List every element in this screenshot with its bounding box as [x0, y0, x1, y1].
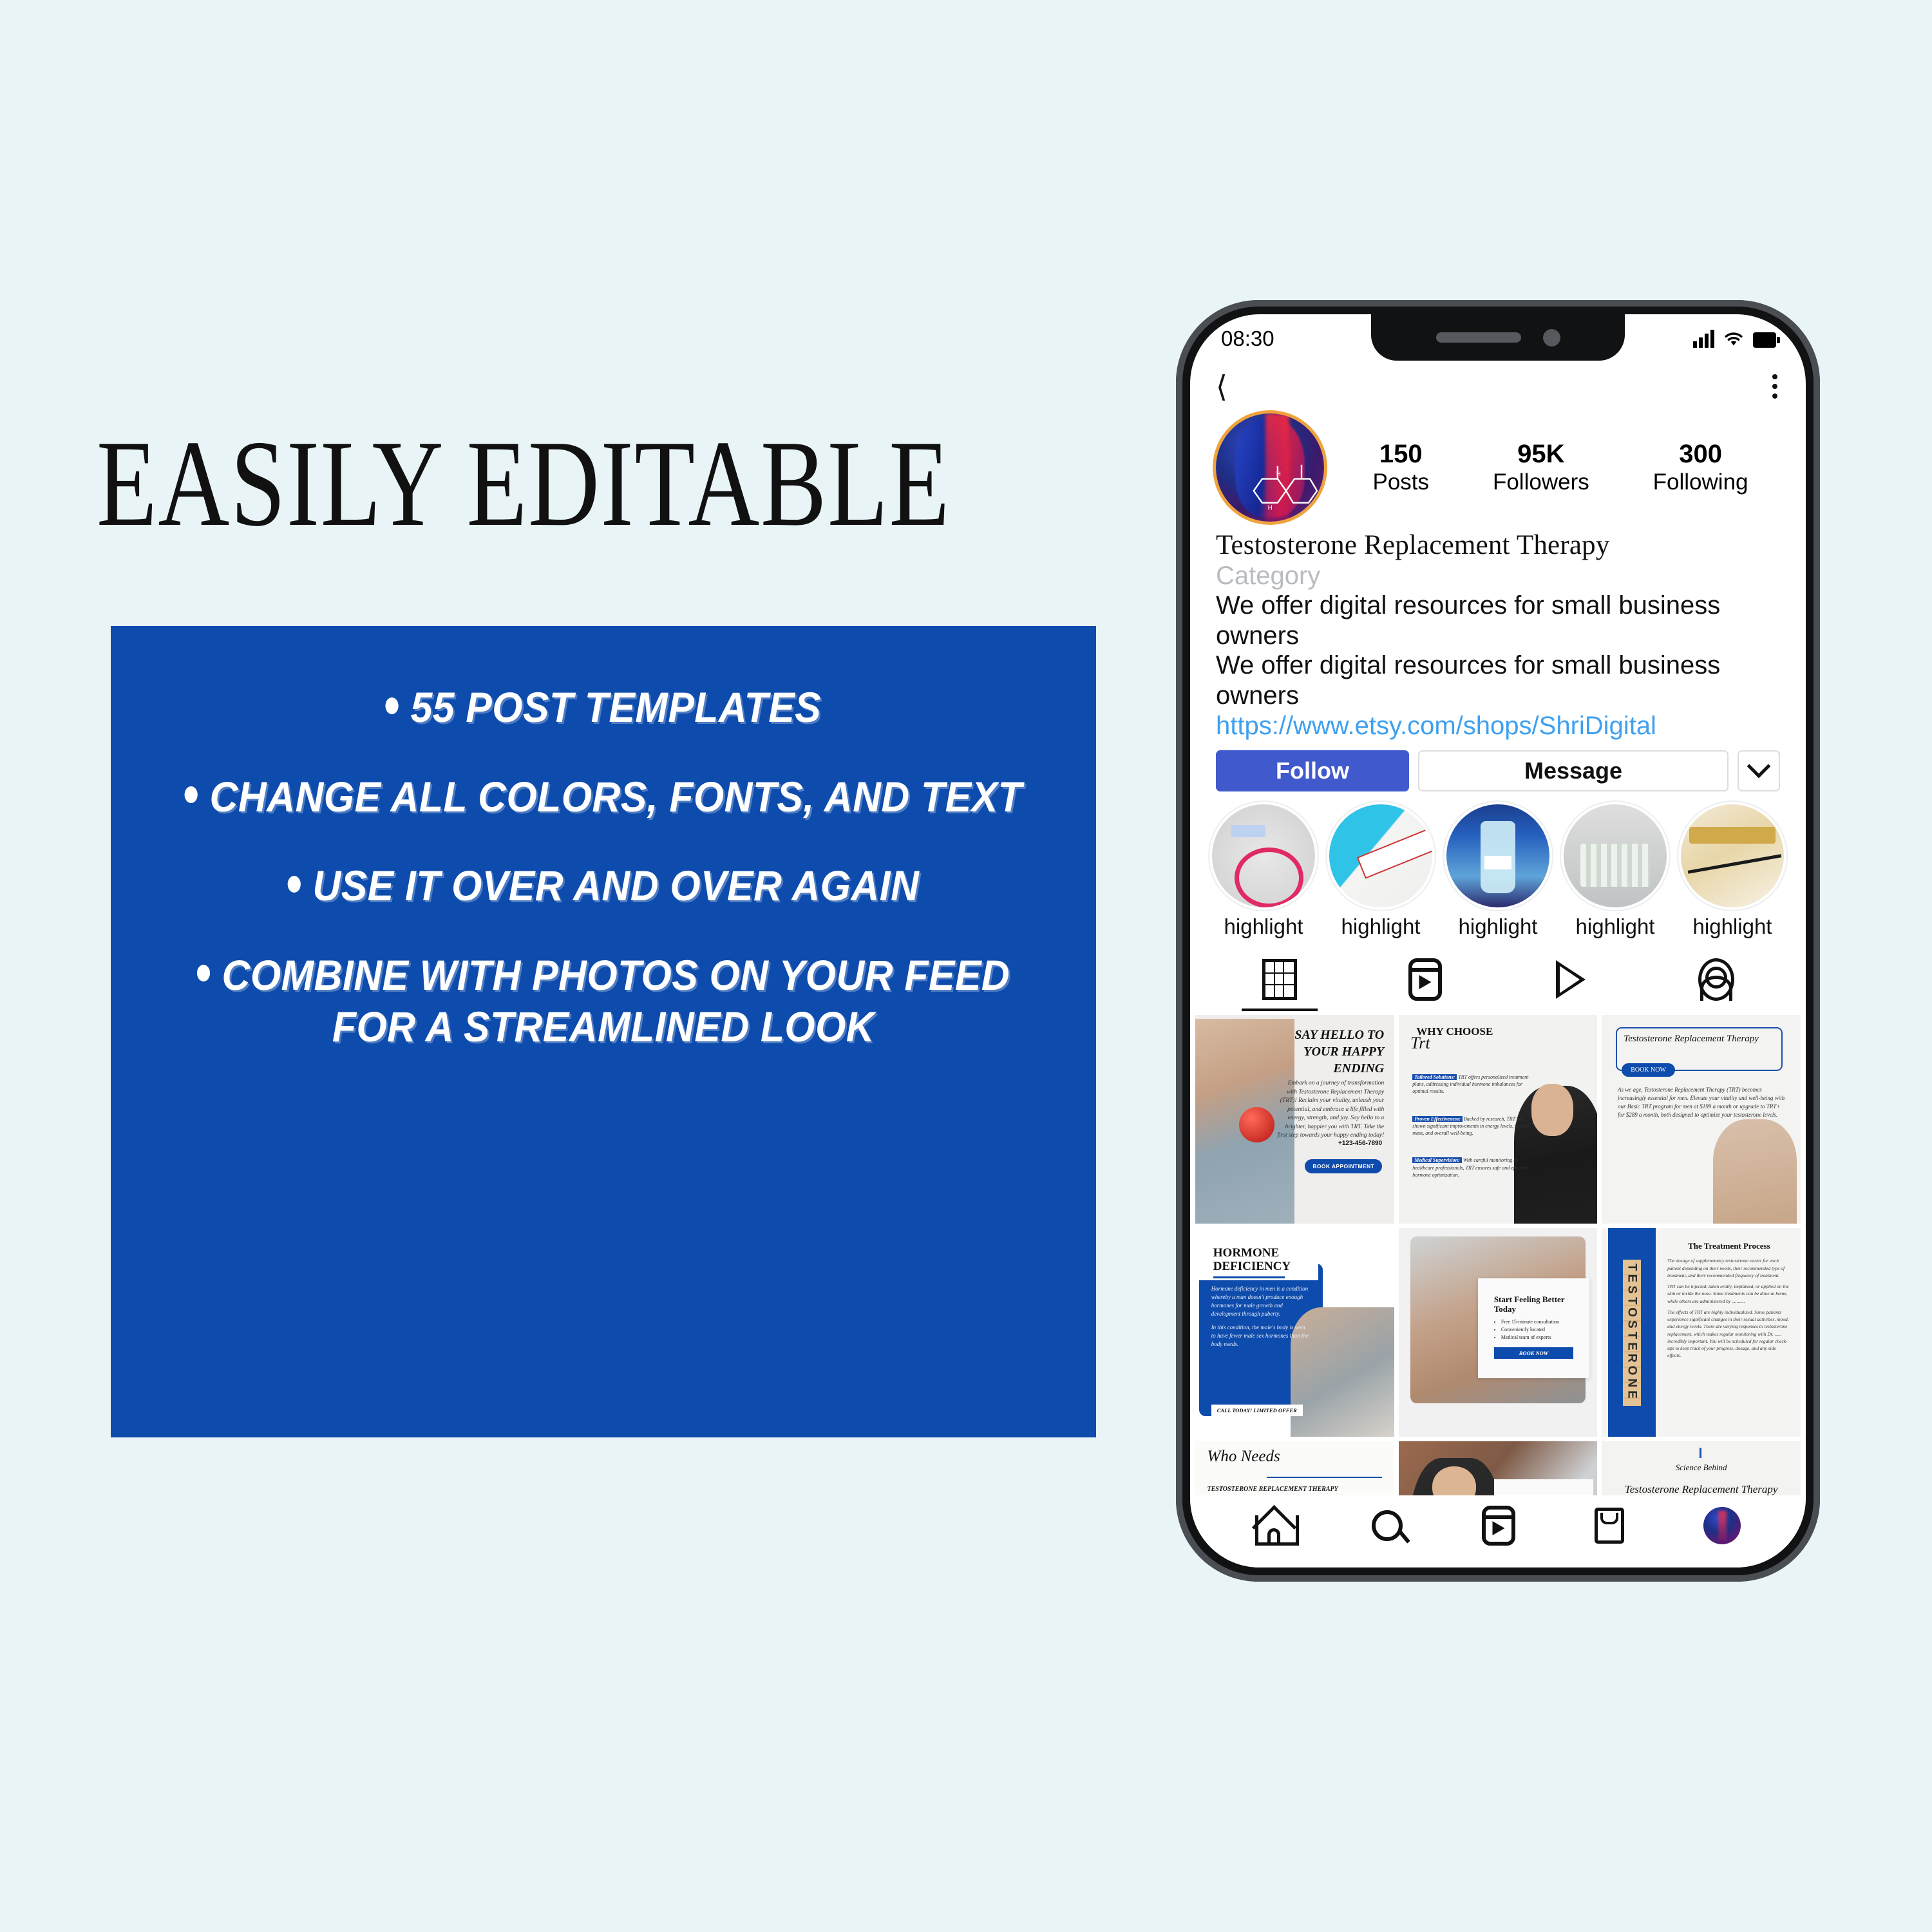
- tab-grid[interactable]: [1231, 956, 1328, 1003]
- post-band: TESTOSTERONE: [1608, 1228, 1656, 1437]
- features-list: 55 POST TEMPLATES CHANGE ALL COLORS, FON…: [137, 681, 1070, 1053]
- post-tile[interactable]: Testosterone Replacement Therapy BOOK NO…: [1602, 1015, 1801, 1224]
- post-body: As we age, Testosterone Replacement Ther…: [1618, 1086, 1785, 1119]
- bullet-dot-icon: [185, 786, 198, 803]
- profile-tabs: [1190, 939, 1806, 1003]
- post-tile[interactable]: HORMONE DEFICIENCY Hormone deficiency in…: [1195, 1228, 1394, 1437]
- highlight-cover: [1446, 804, 1549, 907]
- profile-category: Category: [1216, 561, 1780, 591]
- features-panel: 55 POST TEMPLATES CHANGE ALL COLORS, FON…: [111, 626, 1096, 1437]
- play-icon: [1556, 960, 1586, 999]
- list-item: CHANGE ALL COLORS, FONTS, AND TEXT: [174, 771, 1033, 823]
- post-card: Start Feeling Better Today Free 15-minut…: [1478, 1278, 1589, 1379]
- stat-label: Posts: [1372, 469, 1429, 496]
- post-underline: [1267, 1477, 1382, 1478]
- post-heading: SAY HELLO TO YOUR HAPPY ENDING: [1273, 1027, 1384, 1077]
- highlight-item[interactable]: highlight: [1329, 804, 1432, 939]
- reels-icon: [1408, 958, 1442, 1001]
- stat-label: Following: [1653, 469, 1748, 496]
- grid-icon: [1262, 959, 1297, 1000]
- post-bullets: The dosage of supplementary testosterone…: [1667, 1257, 1790, 1359]
- follow-button[interactable]: Follow: [1216, 750, 1409, 791]
- list-item-label: CHANGE ALL COLORS, FONTS, AND TEXT: [210, 773, 1023, 820]
- highlight-item[interactable]: highlight: [1212, 804, 1315, 939]
- post-underline: [1213, 1276, 1285, 1278]
- highlight-item[interactable]: highlight: [1564, 804, 1667, 939]
- list-item: The dosage of supplementary testosterone…: [1667, 1257, 1790, 1279]
- stat-value: 150: [1372, 439, 1429, 469]
- message-button[interactable]: Message: [1418, 750, 1728, 791]
- post-phone: +123-456-7890: [1338, 1140, 1382, 1147]
- post-tile[interactable]: WHY CHOOSE Trt Tailored Solutions: TRT o…: [1399, 1015, 1598, 1224]
- post-bullets: Free 15-minute consultation Conveniently…: [1494, 1318, 1573, 1341]
- stat-followers[interactable]: 95K Followers: [1493, 439, 1589, 496]
- list-item: Hormone deficiency in men is a condition…: [1211, 1285, 1311, 1318]
- post-accent-tick: [1700, 1448, 1701, 1458]
- search-icon[interactable]: [1372, 1510, 1403, 1541]
- list-item: The effects of TRT are highly individual…: [1667, 1309, 1790, 1359]
- highlight-label: highlight: [1446, 914, 1549, 939]
- phone-screen: 08:30 ⟨ H: [1190, 314, 1806, 1567]
- highlight-cover: [1329, 804, 1432, 907]
- wifi-icon: [1723, 330, 1745, 348]
- chevron-left-icon[interactable]: ⟨: [1216, 372, 1227, 401]
- chevron-down-icon: [1747, 755, 1771, 779]
- post-heading: HORMONE DEFICIENCY: [1213, 1246, 1319, 1274]
- bullet-dot-icon: [288, 876, 301, 893]
- post-script: Testosterone Replacement Therapy: [1602, 1483, 1801, 1496]
- post-script: Testosterone Replacement Therapy: [1624, 1034, 1759, 1045]
- shopping-bag-icon[interactable]: [1595, 1508, 1624, 1544]
- speaker-icon: [1436, 332, 1521, 343]
- status-time: 08:30: [1221, 327, 1274, 351]
- profile-actions: Follow Message: [1190, 741, 1806, 791]
- list-item: USE IT OVER AND OVER AGAIN: [174, 860, 1033, 912]
- list-item: In this condition, the male's body is se…: [1211, 1323, 1311, 1349]
- post-heading: Start Feeling Better Today: [1494, 1294, 1573, 1314]
- profile-name: Testosterone Replacement Therapy: [1216, 529, 1780, 561]
- post-bullets: Hormone deficiency in men is a condition…: [1211, 1285, 1311, 1349]
- list-item-label: USE IT OVER AND OVER AGAIN: [312, 862, 919, 909]
- list-item: TRT can be injected, taken orally, impla…: [1667, 1283, 1790, 1305]
- post-heading-card: HORMONE DEFICIENCY: [1195, 1228, 1318, 1280]
- highlight-label: highlight: [1681, 914, 1784, 939]
- bio-line-1: We offer digital resources for small bus…: [1216, 591, 1780, 650]
- post-grid: SAY HELLO TO YOUR HAPPY ENDING Embark on…: [1190, 1003, 1806, 1567]
- post-subheading: TESTOSTERONE REPLACEMENT THERAPY: [1207, 1485, 1338, 1493]
- tab-reels[interactable]: [1377, 956, 1473, 1003]
- post-eyebrow: Science Behind: [1602, 1463, 1801, 1473]
- home-icon[interactable]: [1255, 1509, 1293, 1542]
- post-body: Embark on a journey of transformation wi…: [1277, 1079, 1385, 1140]
- list-item: Free 15-minute consultation: [1501, 1318, 1573, 1326]
- phone-notch: [1371, 314, 1625, 361]
- profile-link[interactable]: https://www.etsy.com/shops/ShriDigital: [1216, 710, 1780, 741]
- post-cta: BOOK APPOINTMENT: [1305, 1159, 1382, 1173]
- front-camera-icon: [1543, 329, 1560, 346]
- profile-bio: Testosterone Replacement Therapy Categor…: [1190, 522, 1806, 741]
- post-script: Who Needs: [1207, 1448, 1280, 1466]
- profile-avatar-icon[interactable]: [1703, 1507, 1741, 1544]
- highlight-cover: [1681, 804, 1784, 907]
- post-vertical-word: TESTOSTERONE: [1623, 1260, 1641, 1406]
- bio-line-2: We offer digital resources for small bus…: [1216, 650, 1780, 710]
- post-tile[interactable]: TESTOSTERONE The Treatment Process The d…: [1602, 1228, 1801, 1437]
- bullet-dot-icon: [386, 697, 399, 714]
- tab-tagged[interactable]: [1668, 956, 1765, 1003]
- bottom-navigation: [1190, 1495, 1806, 1567]
- post-item-tag: Proven Effectiveness:: [1412, 1116, 1463, 1122]
- profile-header: H H 150 Posts 95K Followers 300 Followin…: [1190, 410, 1806, 522]
- highlight-label: highlight: [1329, 914, 1432, 939]
- post-photo: [1713, 1119, 1797, 1224]
- highlight-item[interactable]: highlight: [1681, 804, 1784, 939]
- app-top-bar: ⟨: [1190, 363, 1806, 410]
- avatar[interactable]: H H: [1216, 413, 1324, 522]
- list-item: COMBINE WITH PHOTOS ON YOUR FEED FOR A S…: [174, 949, 1033, 1053]
- highlight-item[interactable]: highlight: [1446, 804, 1549, 939]
- tagged-person-icon: [1698, 958, 1734, 1001]
- post-heading: The Treatment Process: [1665, 1241, 1793, 1251]
- kebab-menu-icon[interactable]: [1772, 374, 1777, 399]
- battery-icon: [1753, 332, 1776, 348]
- post-tile[interactable]: SAY HELLO TO YOUR HAPPY ENDING Embark on…: [1195, 1015, 1394, 1224]
- bullet-dot-icon: [197, 965, 210, 981]
- stat-value: 300: [1653, 439, 1748, 469]
- post-script: Trt: [1410, 1034, 1430, 1053]
- highlight-label: highlight: [1564, 914, 1667, 939]
- stat-value: 95K: [1493, 439, 1589, 469]
- post-photo-detail: [1531, 1084, 1573, 1136]
- story-highlights: highlight highlight highlight highlight …: [1190, 791, 1806, 939]
- list-item-label: COMBINE WITH PHOTOS ON YOUR FEED FOR A S…: [222, 951, 1010, 1051]
- svg-text:H: H: [1268, 504, 1273, 511]
- post-item-tag: Medical Supervision:: [1412, 1157, 1461, 1163]
- post-cta: BOOK NOW: [1494, 1347, 1573, 1359]
- more-options-button[interactable]: [1738, 750, 1780, 791]
- post-cta: BOOK NOW: [1622, 1063, 1675, 1077]
- highlight-label: highlight: [1212, 914, 1315, 939]
- svg-text:H: H: [1276, 471, 1281, 478]
- signal-bars-icon: [1693, 330, 1714, 348]
- highlight-cover: [1212, 804, 1315, 907]
- reels-icon[interactable]: [1482, 1506, 1515, 1546]
- list-item: 55 POST TEMPLATES: [174, 681, 1033, 734]
- page-title: EASILY EDITABLE: [97, 422, 972, 545]
- profile-stats: 150 Posts 95K Followers 300 Following: [1324, 439, 1780, 496]
- stat-posts[interactable]: 150 Posts: [1372, 439, 1429, 496]
- phone-mockup: 08:30 ⟨ H: [1176, 300, 1820, 1582]
- list-item: Conveniently located: [1501, 1326, 1573, 1334]
- molecule-icon: H H: [1246, 459, 1318, 515]
- post-cta: CALL TODAY! LIMITED OFFER: [1211, 1405, 1303, 1416]
- post-photo-detail: [1239, 1107, 1275, 1142]
- post-tile[interactable]: Start Feeling Better Today Free 15-minut…: [1399, 1228, 1598, 1437]
- post-item-tag: Tailored Solutions:: [1412, 1074, 1457, 1080]
- stat-label: Followers: [1493, 469, 1589, 496]
- list-item: Medical team of experts: [1501, 1334, 1573, 1341]
- tab-video[interactable]: [1522, 956, 1619, 1003]
- highlight-cover: [1564, 804, 1667, 907]
- stat-following[interactable]: 300 Following: [1653, 439, 1748, 496]
- list-item-label: 55 POST TEMPLATES: [411, 683, 822, 731]
